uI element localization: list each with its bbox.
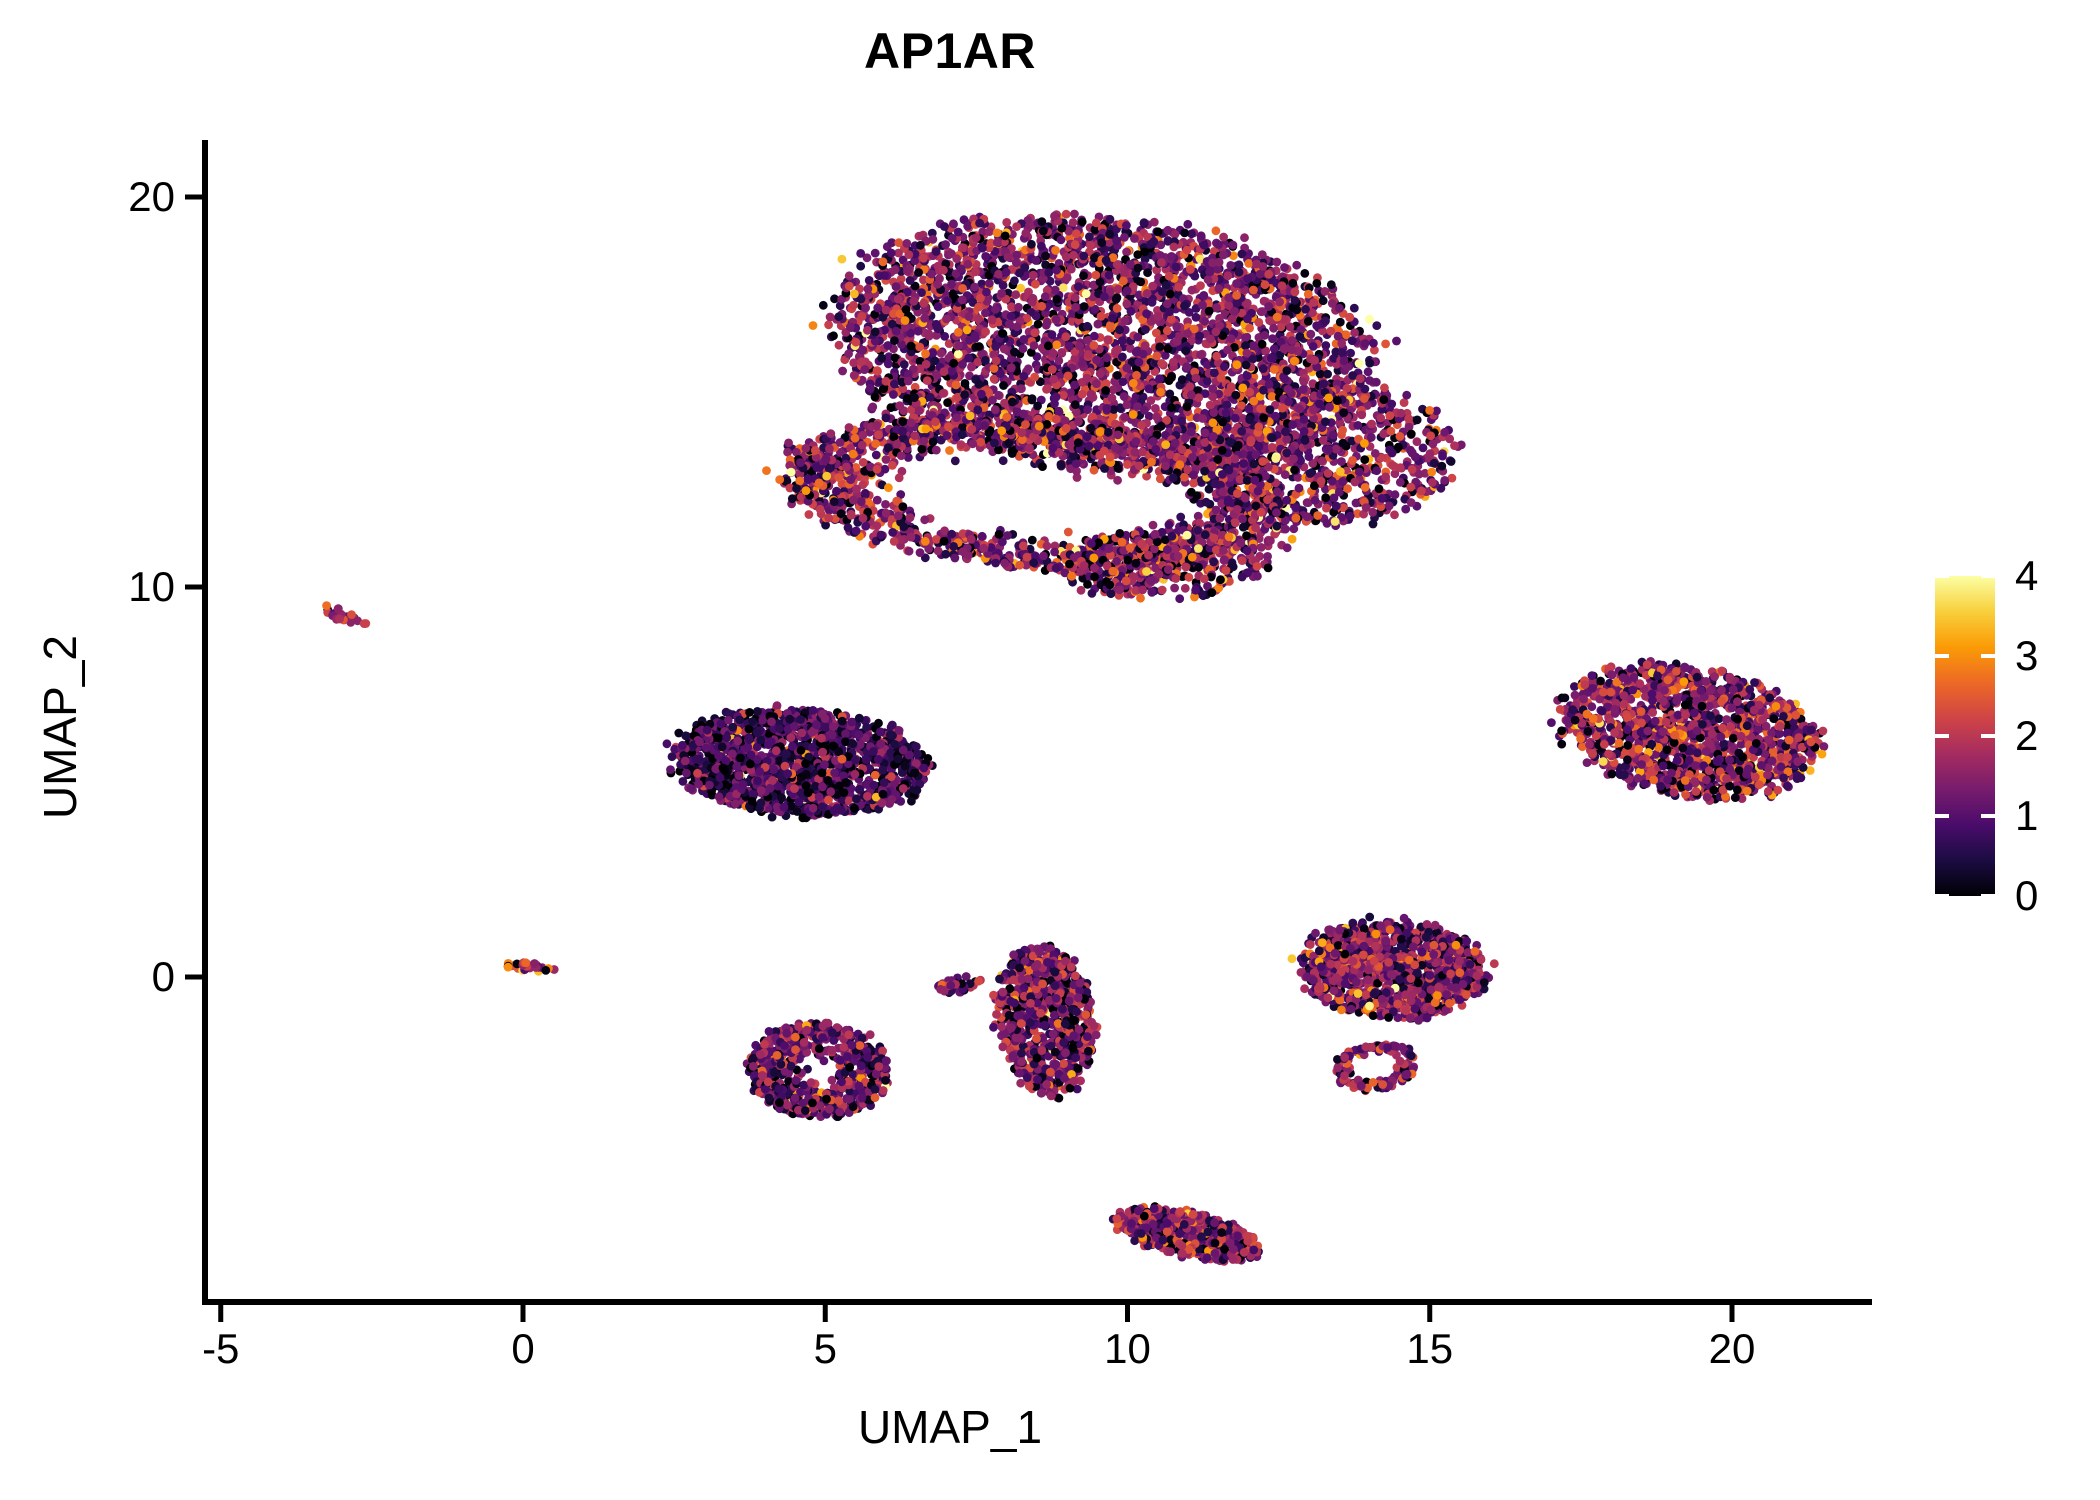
x-tick-label: 0	[511, 1325, 534, 1373]
colorbar-tick-label: 1	[2015, 792, 2038, 840]
scatter-points-layer	[322, 210, 1828, 1266]
colorbar-gradient	[1935, 576, 1995, 896]
colorbar-tick-label: 2	[2015, 712, 2038, 760]
scatter-plot-canvas	[0, 0, 2100, 1500]
x-tick-label: 15	[1406, 1325, 1453, 1373]
x-tick-label: 5	[814, 1325, 837, 1373]
umap-feature-plot: AP1AR -505101520 01020 UMAP_1 UMAP_2 012…	[0, 0, 2100, 1500]
colorbar-tick-label: 3	[2015, 632, 2038, 680]
x-tick-label: 10	[1104, 1325, 1151, 1373]
y-axis-title: UMAP_2	[33, 427, 87, 1027]
y-tick-label: 20	[55, 173, 175, 221]
x-tick-label: 20	[1709, 1325, 1756, 1373]
x-axis-title: UMAP_1	[0, 1400, 1900, 1454]
x-tick-label: -5	[202, 1325, 239, 1373]
colorbar-tick-label: 0	[2015, 872, 2038, 920]
colorbar-tick-label: 4	[2015, 552, 2038, 600]
